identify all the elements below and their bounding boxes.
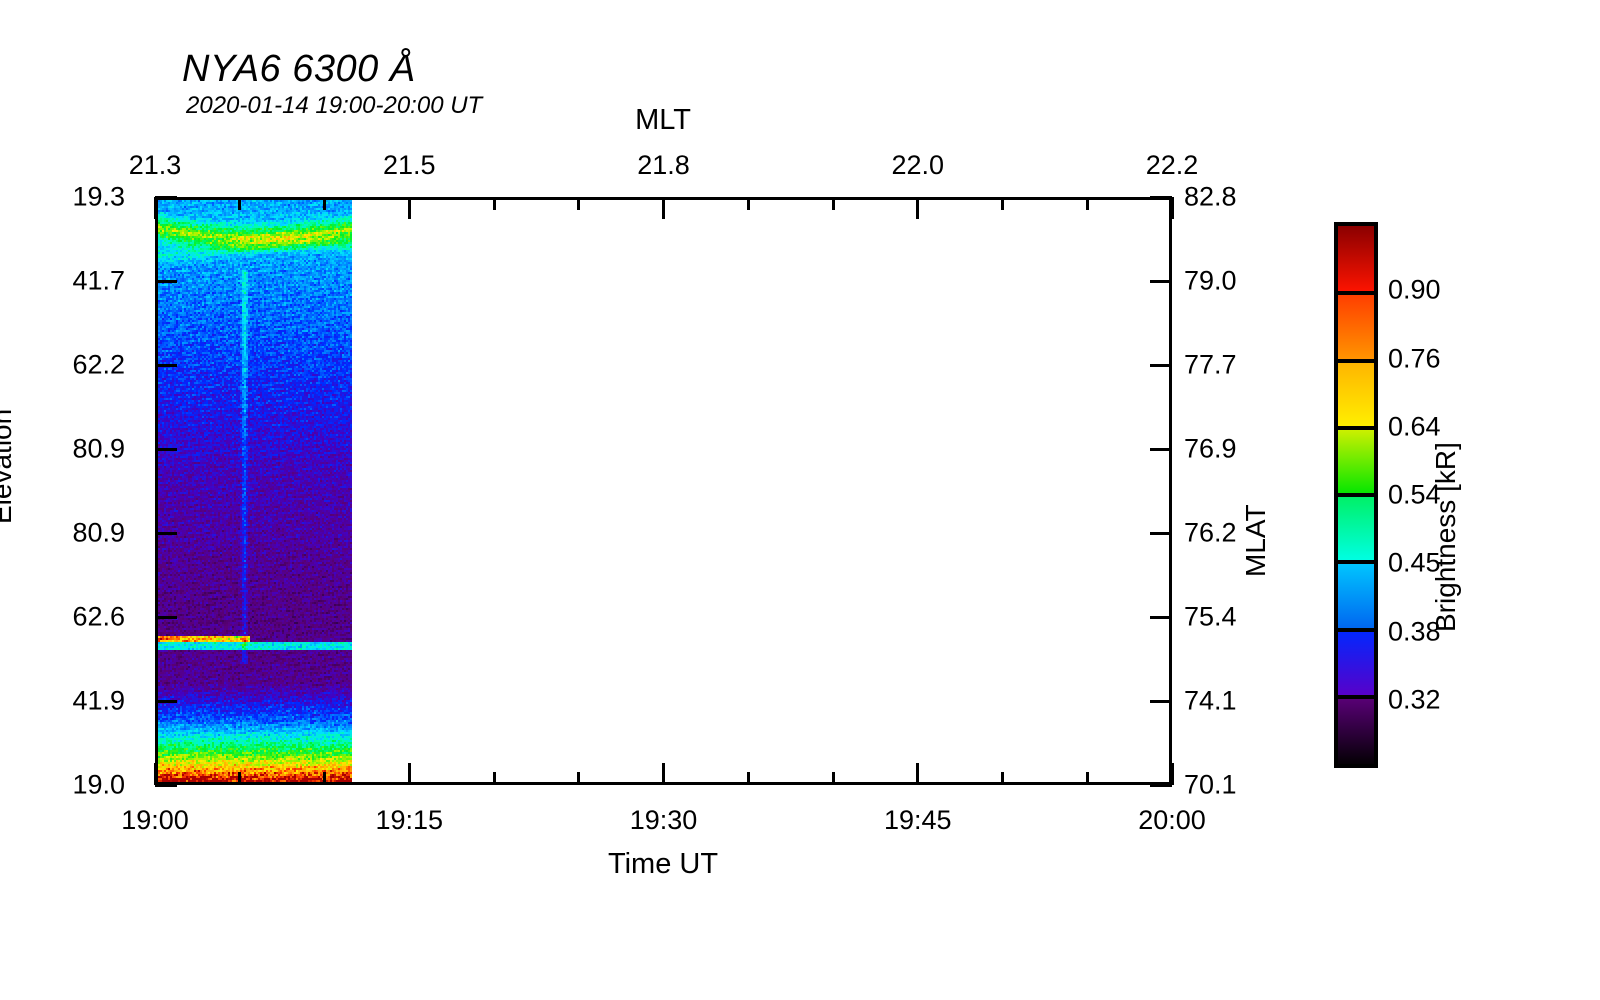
x-minor-tick-bottom <box>1001 772 1004 785</box>
colorbar-separator <box>1338 291 1374 295</box>
x-minor-tick-top <box>493 197 496 210</box>
colorbar-band <box>1338 495 1374 562</box>
y-tick-right <box>1150 280 1172 283</box>
colorbar <box>1334 222 1378 768</box>
colorbar-title: Brightness [kR] <box>1430 442 1462 632</box>
colorbar-tick-label: 0.76 <box>1388 343 1441 374</box>
colorbar-separator <box>1338 560 1374 564</box>
y-tick-label-right: 75.4 <box>1184 602 1237 633</box>
y-tick-label-right: 79.0 <box>1184 266 1237 297</box>
x-tick-label-top: 21.8 <box>637 150 690 181</box>
y-tick-label-left: 19.0 <box>72 770 125 801</box>
x-tick-bottom <box>154 763 157 785</box>
x-tick-bottom <box>916 763 919 785</box>
y-tick-label-right: 77.7 <box>1184 350 1237 381</box>
colorbar-band <box>1338 428 1374 495</box>
colorbar-tick-label: 0.90 <box>1388 275 1441 306</box>
x-tick-bottom <box>662 763 665 785</box>
colorbar-separator <box>1338 359 1374 363</box>
x-minor-tick-bottom <box>238 772 241 785</box>
x-axis-title-top: MLT <box>635 104 691 137</box>
x-minor-tick-top <box>238 197 241 210</box>
y-tick-right <box>1150 700 1172 703</box>
y-tick-left <box>155 784 177 787</box>
x-tick-bottom <box>1171 763 1174 785</box>
page-title: NYA6 6300 Å <box>182 48 416 91</box>
x-tick-label-bottom: 19:45 <box>884 805 952 836</box>
y-tick-label-left: 62.2 <box>72 350 125 381</box>
y-tick-left <box>155 616 177 619</box>
y-tick-left <box>155 448 177 451</box>
colorbar-separator <box>1338 695 1374 699</box>
y-tick-label-right: 76.9 <box>1184 434 1237 465</box>
x-tick-top <box>1171 197 1174 219</box>
y-tick-right <box>1150 196 1172 199</box>
y-tick-right <box>1150 616 1172 619</box>
y-tick-left <box>155 700 177 703</box>
x-tick-label-bottom: 19:00 <box>121 805 189 836</box>
y-tick-label-left: 41.7 <box>72 266 125 297</box>
x-tick-label-top: 22.2 <box>1146 150 1199 181</box>
y-tick-label-right: 74.1 <box>1184 686 1237 717</box>
x-minor-tick-top <box>577 197 580 210</box>
y-tick-label-left: 41.9 <box>72 686 125 717</box>
colorbar-band <box>1338 630 1374 697</box>
x-minor-tick-bottom <box>577 772 580 785</box>
x-minor-tick-bottom <box>323 772 326 785</box>
y-tick-right <box>1150 364 1172 367</box>
y-tick-label-left: 62.6 <box>72 602 125 633</box>
x-tick-label-bottom: 19:30 <box>630 805 698 836</box>
keogram-canvas <box>158 200 352 782</box>
x-tick-label-top: 21.3 <box>129 150 182 181</box>
x-tick-label-bottom: 20:00 <box>1138 805 1206 836</box>
y-tick-label-left: 19.3 <box>72 182 125 213</box>
colorbar-separator <box>1338 426 1374 430</box>
x-tick-label-top: 22.0 <box>891 150 944 181</box>
colorbar-tick-label: 0.32 <box>1388 684 1441 715</box>
x-tick-top <box>154 197 157 219</box>
colorbar-band <box>1338 697 1374 764</box>
colorbar-gradient <box>1338 226 1374 764</box>
colorbar-separator <box>1338 493 1374 497</box>
colorbar-band <box>1338 562 1374 629</box>
page-subtitle: 2020-01-14 19:00-20:00 UT <box>186 92 482 120</box>
colorbar-tick-label: 0.64 <box>1388 411 1441 442</box>
y-tick-label-right: 82.8 <box>1184 182 1237 213</box>
y-tick-left <box>155 196 177 199</box>
y-tick-right <box>1150 532 1172 535</box>
x-tick-top <box>662 197 665 219</box>
x-minor-tick-bottom <box>493 772 496 785</box>
y-axis-title-left: Elevation <box>0 409 18 524</box>
y-axis-title-right: MLAT <box>1240 504 1272 577</box>
x-minor-tick-top <box>323 197 326 210</box>
x-tick-label-bottom: 19:15 <box>375 805 443 836</box>
y-tick-right <box>1150 448 1172 451</box>
colorbar-band <box>1338 361 1374 428</box>
y-tick-left <box>155 364 177 367</box>
x-minor-tick-bottom <box>832 772 835 785</box>
y-tick-left <box>155 532 177 535</box>
y-tick-label-right: 70.1 <box>1184 770 1237 801</box>
colorbar-band <box>1338 293 1374 360</box>
x-minor-tick-top <box>747 197 750 210</box>
y-tick-label-left: 80.9 <box>72 434 125 465</box>
keogram-data-region <box>158 200 352 782</box>
y-tick-left <box>155 280 177 283</box>
y-tick-label-right: 76.2 <box>1184 518 1237 549</box>
x-minor-tick-top <box>1001 197 1004 210</box>
x-axis-title-bottom: Time UT <box>608 848 718 881</box>
y-tick-right <box>1150 784 1172 787</box>
x-tick-top <box>916 197 919 219</box>
x-minor-tick-top <box>832 197 835 210</box>
x-tick-bottom <box>408 763 411 785</box>
x-minor-tick-bottom <box>1086 772 1089 785</box>
x-minor-tick-bottom <box>747 772 750 785</box>
colorbar-band <box>1338 226 1374 293</box>
x-minor-tick-top <box>1086 197 1089 210</box>
x-tick-top <box>408 197 411 219</box>
colorbar-separator <box>1338 628 1374 632</box>
y-tick-label-left: 80.9 <box>72 518 125 549</box>
x-tick-label-top: 21.5 <box>383 150 436 181</box>
